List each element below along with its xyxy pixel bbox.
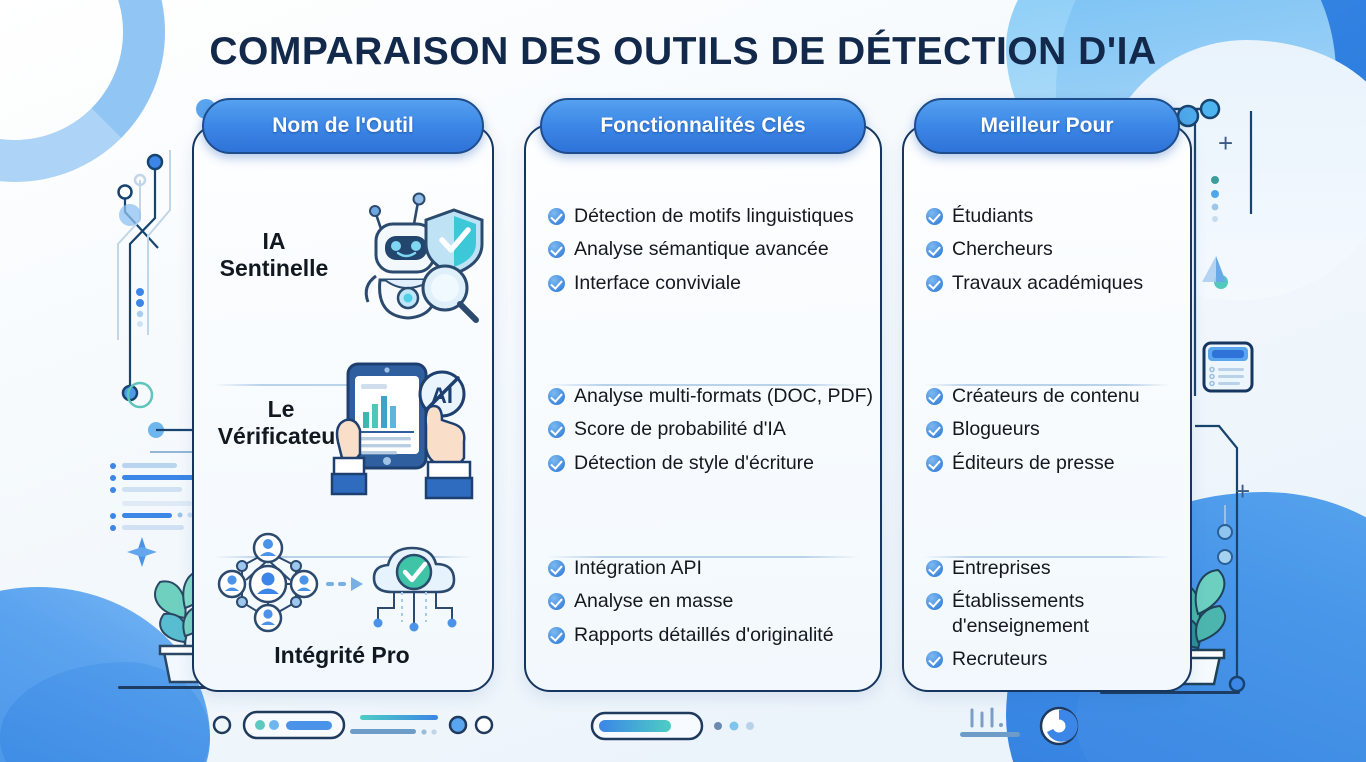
check-icon — [548, 593, 565, 610]
list-item: Analyse en masse — [548, 589, 874, 613]
list-item: Score de probabilité d'IA — [548, 417, 874, 441]
background-blob-bottom-left-2 — [0, 662, 210, 762]
list-item: Intégration API — [548, 556, 874, 580]
table-row: Analyse multi-formats (DOC, PDF) Score d… — [526, 350, 880, 522]
list-item: Analyse sémantique avancée — [548, 237, 874, 261]
tool-name-line-1: Intégrité Pro — [234, 642, 450, 669]
list-item: Détection de motifs linguistiques — [548, 204, 874, 228]
list-item: Détection de style d'écriture — [548, 451, 874, 475]
check-icon — [926, 421, 943, 438]
feature-list-row-3: Intégration API Analyse en masse Rapport… — [548, 556, 874, 656]
check-icon — [926, 651, 943, 668]
sparkle-diamond-icon — [125, 535, 159, 569]
column-card-tool-name: Nom de l'Outil IA Sentinelle — [192, 124, 494, 692]
check-icon — [926, 560, 943, 577]
column-card-features: Fonctionnalités Clés Détection de motifs… — [524, 124, 882, 692]
bottom-left-ui-bits — [210, 705, 630, 747]
check-icon — [926, 455, 943, 472]
check-icon — [926, 593, 943, 610]
progress-pill-bottom — [590, 708, 790, 744]
check-icon — [926, 275, 943, 292]
column-card-best-for: Meilleur Pour Étudiants Chercheurs — [902, 124, 1192, 692]
column-header-best-for: Meilleur Pour — [914, 98, 1180, 154]
check-icon — [926, 241, 943, 258]
table-row: IA Sentinelle — [194, 162, 492, 348]
audience-list-row-1: Étudiants Chercheurs Travaux académiques — [926, 204, 1184, 304]
table-row: Intégration API Analyse en masse Rapport… — [526, 524, 880, 694]
check-icon — [926, 208, 943, 225]
feature-list-row-1: Détection de motifs linguistiques Analys… — [548, 204, 874, 304]
audience-list-row-3: Entreprises Établissements d'enseignemen… — [926, 556, 1184, 681]
circuit-traces-right — [1185, 96, 1305, 706]
tool-name-line-2: Sentinelle — [208, 255, 340, 282]
plus-marker-mid-right: + — [1235, 478, 1250, 504]
list-item: Étudiants — [926, 204, 1184, 228]
document-list-card-icon — [1202, 341, 1254, 393]
list-item: Établissements d'enseignement — [926, 589, 1184, 638]
column-header-features: Fonctionnalités Clés — [540, 98, 866, 154]
list-item: Chercheurs — [926, 237, 1184, 261]
mini-bar-chart-icon — [960, 700, 1080, 744]
donut-chart-icon — [1038, 705, 1080, 747]
robot-shield-magnifier-icon — [336, 180, 486, 330]
list-item: Recruteurs — [926, 647, 1184, 671]
check-icon — [548, 241, 565, 258]
table-row: Créateurs de contenu Blogueurs Éditeurs … — [904, 350, 1190, 522]
check-icon — [548, 455, 565, 472]
page-title: COMPARAISON DES OUTILS DE DÉTECTION D'IA — [0, 30, 1366, 74]
background-blob-bottom-left — [0, 587, 210, 762]
check-icon — [548, 627, 565, 644]
table-row: Entreprises Établissements d'enseignemen… — [904, 524, 1190, 694]
list-item: Interface conviviale — [548, 271, 874, 295]
tablet-hands-ai-icon: AI — [320, 358, 488, 508]
list-item: Éditeurs de presse — [926, 451, 1184, 475]
tool-name-label: Intégrité Pro — [234, 642, 450, 669]
table-row: Le Vérificateur — [194, 350, 492, 522]
feature-list-row-2: Analyse multi-formats (DOC, PDF) Score d… — [548, 384, 874, 484]
list-item: Entreprises — [926, 556, 1184, 580]
tool-name-label: IA Sentinelle — [208, 228, 340, 282]
check-icon — [548, 208, 565, 225]
list-item: Rapports détaillés d'originalité — [548, 623, 874, 647]
tool-name-line-1: IA — [208, 228, 340, 255]
vertical-dots-right — [1208, 175, 1222, 231]
check-icon — [548, 275, 565, 292]
list-item: Blogueurs — [926, 417, 1184, 441]
check-icon — [548, 421, 565, 438]
table-row: Détection de motifs linguistiques Analys… — [526, 162, 880, 348]
table-row: Intégrité Pro — [194, 524, 492, 694]
list-item: Créateurs de contenu — [926, 384, 1184, 408]
column-header-tool-name: Nom de l'Outil — [202, 98, 484, 154]
user-network-cloud-check-icon — [206, 530, 474, 642]
table-row: Étudiants Chercheurs Travaux académiques — [904, 162, 1190, 348]
check-icon — [548, 560, 565, 577]
check-icon — [926, 388, 943, 405]
plus-marker-top-right: + — [1218, 130, 1233, 156]
list-item: Travaux académiques — [926, 271, 1184, 295]
check-icon — [548, 388, 565, 405]
infographic-canvas: + + — [0, 0, 1366, 762]
nodes-right-lower — [1210, 505, 1240, 585]
background-ring-top-left — [0, 0, 165, 182]
list-item: Analyse multi-formats (DOC, PDF) — [548, 384, 874, 408]
triangle-marker-right — [1196, 252, 1230, 288]
audience-list-row-2: Créateurs de contenu Blogueurs Éditeurs … — [926, 384, 1184, 484]
